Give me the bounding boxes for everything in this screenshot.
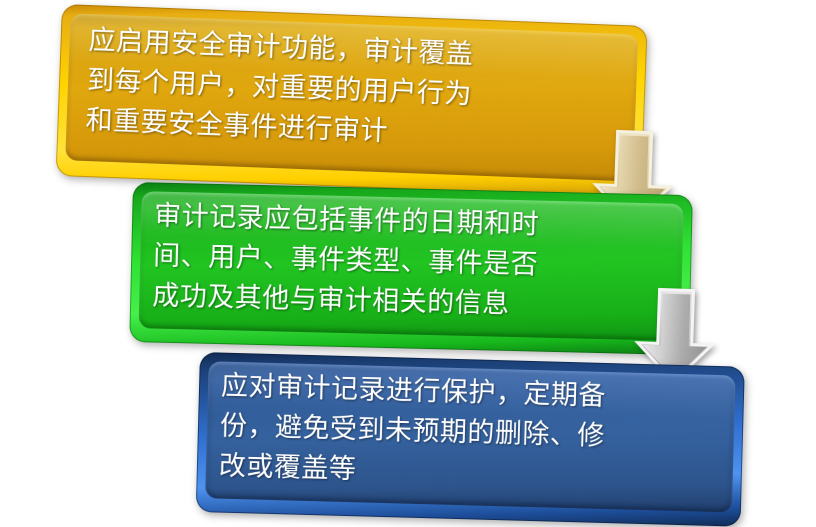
flow-step-audit-enable[interactable]: 应启用安全审计功能，审计覆盖 到每个用户，对重要的用户行为 和重要安全事件进行审… bbox=[56, 4, 648, 198]
step-text-line-3: 成功及其他与审计相关的信息 bbox=[152, 276, 510, 324]
flow-step-audit-protect[interactable]: 应对审计记录进行保护，定期备 份，避免受到未预期的删除、修 改或覆盖等 bbox=[196, 352, 745, 527]
step-text-line-3: 改或覆盖等 bbox=[218, 447, 357, 491]
flow-step-audit-record[interactable]: 审计记录应包括事件的日期和时 间、用户、事件类型、事件是否 成功及其他与审计相关… bbox=[129, 182, 693, 355]
slide-canvas: 应启用安全审计功能，审计覆盖 到每个用户，对重要的用户行为 和重要安全事件进行审… bbox=[0, 0, 816, 524]
